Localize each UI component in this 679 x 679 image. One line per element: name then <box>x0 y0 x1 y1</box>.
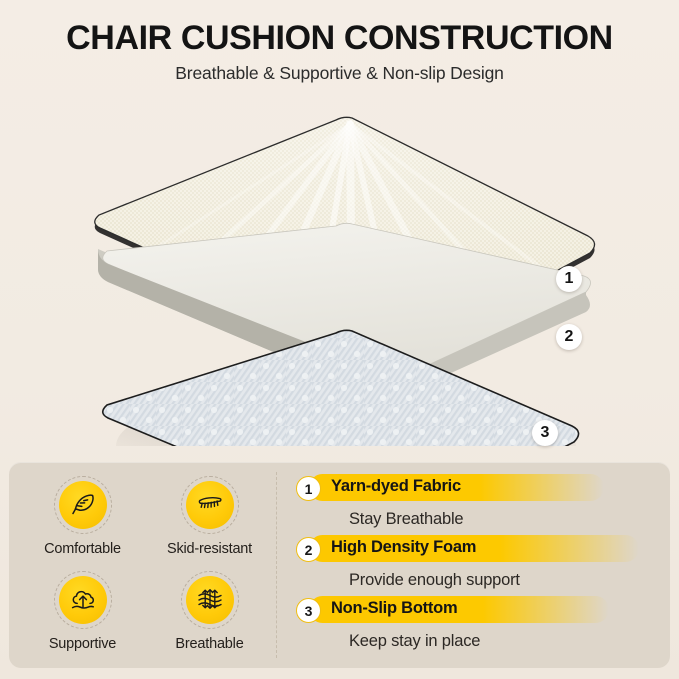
feature-title-3: Non-Slip Bottom <box>331 599 457 618</box>
header: CHAIR CUSHION CONSTRUCTION Breathable & … <box>0 20 679 84</box>
brush-bristles-icon <box>186 481 234 529</box>
page-title: CHAIR CUSHION CONSTRUCTION <box>5 20 674 56</box>
layer-badge-3: 3 <box>532 420 558 446</box>
feature-title-2: High Density Foam <box>331 538 476 557</box>
benefit-skid-resistant[interactable]: Skid-resistant <box>148 472 271 565</box>
benefit-label: Supportive <box>49 636 116 652</box>
feather-icon <box>59 481 107 529</box>
feature-row-2[interactable]: 2 High Density Foam <box>291 535 661 565</box>
feature-subtitle-3: Keep stay in place <box>291 626 661 657</box>
benefit-icon-grid: Comfortable Skid-resistant <box>21 472 271 660</box>
feature-row-3[interactable]: 3 Non-Slip Bottom <box>291 596 661 626</box>
feature-subtitle-1: Stay Breathable <box>291 504 661 535</box>
panel-divider <box>276 472 277 658</box>
feature-number-3: 3 <box>296 598 321 623</box>
woven-mesh-icon <box>186 576 234 624</box>
feature-list: 1 Yarn-dyed Fabric Stay Breathable 2 Hig… <box>291 474 661 658</box>
feature-title-1: Yarn-dyed Fabric <box>331 477 461 496</box>
feature-panel: Comfortable Skid-resistant <box>9 462 670 668</box>
benefit-supportive[interactable]: Supportive <box>21 567 144 660</box>
feature-row-1[interactable]: 1 Yarn-dyed Fabric <box>291 474 661 504</box>
feature-number-1: 1 <box>296 476 321 501</box>
benefit-label: Comfortable <box>44 541 121 557</box>
page-subtitle: Breathable & Supportive & Non-slip Desig… <box>0 63 679 84</box>
benefit-breathable[interactable]: Breathable <box>148 567 271 660</box>
benefit-label: Breathable <box>175 636 243 652</box>
infographic-canvas: CHAIR CUSHION CONSTRUCTION Breathable & … <box>0 0 679 679</box>
cushion-layer-diagram: 1 2 3 <box>0 96 679 446</box>
benefit-comfortable[interactable]: Comfortable <box>21 472 144 565</box>
cloud-up-arrow-icon <box>59 576 107 624</box>
benefit-label: Skid-resistant <box>167 541 252 557</box>
layer-badge-1: 1 <box>556 266 582 292</box>
layer-3-nonslip-bottom <box>103 330 579 446</box>
feature-number-2: 2 <box>296 537 321 562</box>
feature-subtitle-2: Provide enough support <box>291 565 661 596</box>
layer-badge-2: 2 <box>556 324 582 350</box>
